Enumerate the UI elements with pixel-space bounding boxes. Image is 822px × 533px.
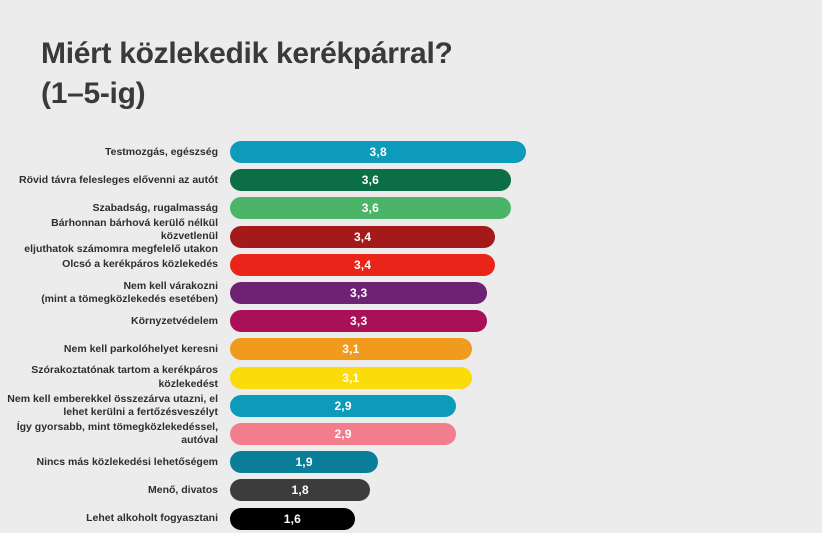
bar-row: Testmozgás, egészség3,8 <box>0 138 822 166</box>
bar: 2,9 <box>230 423 456 445</box>
chart-page: Miért közlekedik kerékpárral? (1–5-ig) T… <box>0 0 822 532</box>
bar-category-label: Nincs más közlekedési lehetőségem <box>0 456 230 469</box>
bar: 3,6 <box>230 169 511 191</box>
bar-value-label: 3,8 <box>370 145 387 159</box>
bar-row: Bárhonnan bárhová kerülő nélkül közvetle… <box>0 223 822 251</box>
bar-value-label: 3,6 <box>362 201 379 215</box>
bar: 3,4 <box>230 254 495 276</box>
page-title: Miért közlekedik kerékpárral? (1–5-ig) <box>41 34 681 114</box>
bar-category-label: Nem kell emberekkel összezárva utazni, e… <box>0 393 230 419</box>
bar-category-label: Olcsó a kerékpáros közlekedés <box>0 258 230 271</box>
bar-value-label: 3,3 <box>350 314 367 328</box>
bar-row: Rövid távra felesleges elővenni az autót… <box>0 166 822 194</box>
bar-row: Így gyorsabb, mint tömegközlekedéssel, a… <box>0 420 822 448</box>
bar-row: Menő, divatos1,8 <box>0 476 822 504</box>
bar-value-label: 3,4 <box>354 230 371 244</box>
bar-row: Környzetvédelem3,3 <box>0 307 822 335</box>
bar-track: 3,8 <box>230 138 822 166</box>
bar: 1,9 <box>230 451 378 473</box>
bar-track: 3,3 <box>230 307 822 335</box>
bar-category-label: Szórakoztatónak tartom a kerékpáros közl… <box>0 364 230 390</box>
bar-track: 3,1 <box>230 335 822 363</box>
bar: 3,6 <box>230 197 511 219</box>
bar-track: 3,4 <box>230 223 822 251</box>
bar: 3,1 <box>230 367 472 389</box>
bar-track: 3,3 <box>230 279 822 307</box>
bar: 2,9 <box>230 395 456 417</box>
bar-row: Nem kell parkolóhelyet keresni3,1 <box>0 335 822 363</box>
bar-category-label: Így gyorsabb, mint tömegközlekedéssel, a… <box>0 421 230 447</box>
bar-track: 1,6 <box>230 504 822 532</box>
bar-row: Olcsó a kerékpáros közlekedés3,4 <box>0 251 822 279</box>
bar-value-label: 3,4 <box>354 258 371 272</box>
bar-row: Nem kell emberekkel összezárva utazni, e… <box>0 392 822 420</box>
bar-row: Nem kell várakozni (mint a tömegközleked… <box>0 279 822 307</box>
bar-track: 2,9 <box>230 420 822 448</box>
bar-category-label: Nem kell parkolóhelyet keresni <box>0 343 230 356</box>
bar: 3,8 <box>230 141 526 163</box>
bar-row: Lehet alkoholt fogyasztani1,6 <box>0 504 822 532</box>
bar-value-label: 3,1 <box>342 342 359 356</box>
bar-value-label: 2,9 <box>334 427 351 441</box>
bar-category-label: Menő, divatos <box>0 484 230 497</box>
bar-track: 3,6 <box>230 166 822 194</box>
bar-category-label: Lehet alkoholt fogyasztani <box>0 512 230 525</box>
bar-value-label: 3,6 <box>362 173 379 187</box>
bar: 3,4 <box>230 226 495 248</box>
bar-chart-plot: Testmozgás, egészség3,8Rövid távra feles… <box>0 138 822 533</box>
bar-category-label: Szabadság, rugalmasság <box>0 202 230 215</box>
bar: 1,6 <box>230 508 355 530</box>
bar-track: 3,1 <box>230 364 822 392</box>
bar-category-label: Rövid távra felesleges elővenni az autót <box>0 174 230 187</box>
bar-value-label: 3,1 <box>342 371 359 385</box>
bar-track: 1,8 <box>230 476 822 504</box>
bar: 3,1 <box>230 338 472 360</box>
bar-track: 3,4 <box>230 251 822 279</box>
bar-value-label: 1,6 <box>284 512 301 526</box>
bar-track: 3,6 <box>230 194 822 222</box>
bar-row: Nincs más közlekedési lehetőségem1,9 <box>0 448 822 476</box>
bar-row: Szórakoztatónak tartom a kerékpáros közl… <box>0 364 822 392</box>
bar-category-label: Testmozgás, egészség <box>0 146 230 159</box>
bar-value-label: 3,3 <box>350 286 367 300</box>
bar-category-label: Környzetvédelem <box>0 315 230 328</box>
bar: 1,8 <box>230 479 370 501</box>
bar: 3,3 <box>230 282 487 304</box>
bar-value-label: 1,8 <box>292 483 309 497</box>
bar-value-label: 1,9 <box>295 455 312 469</box>
bar-track: 2,9 <box>230 392 822 420</box>
bar-value-label: 2,9 <box>334 399 351 413</box>
bar: 3,3 <box>230 310 487 332</box>
bar-category-label: Nem kell várakozni (mint a tömegközleked… <box>0 280 230 306</box>
bar-track: 1,9 <box>230 448 822 476</box>
